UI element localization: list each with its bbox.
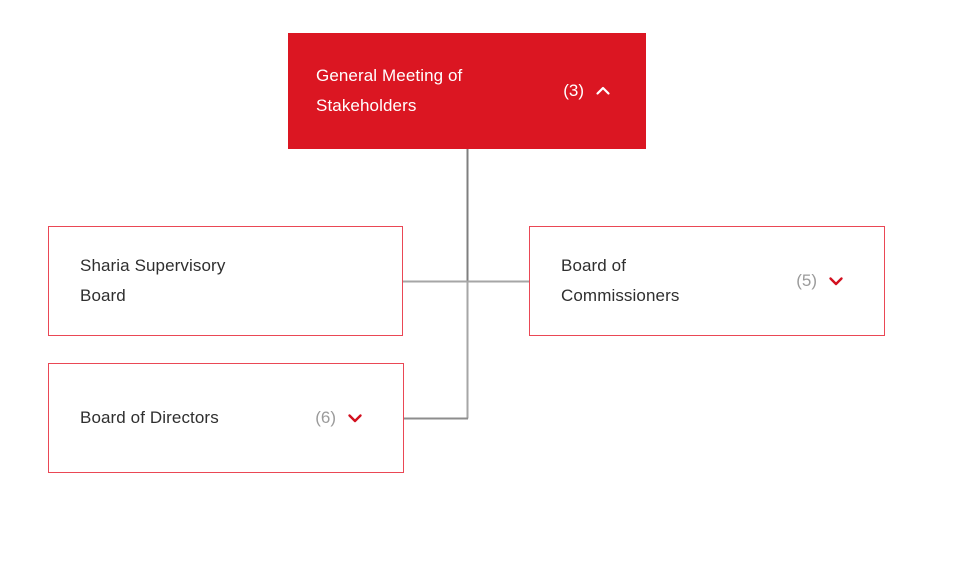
org-node-board-of-commissioners[interactable]: Board of Commissioners (5) <box>529 226 885 336</box>
org-node-count: (5) <box>796 271 817 291</box>
org-node-label: Board of Directors <box>49 403 219 433</box>
chevron-down-icon[interactable] <box>345 408 365 428</box>
org-node-meta: (5) <box>796 271 884 291</box>
org-node-count: (3) <box>563 81 584 101</box>
org-node-sharia-supervisory-board[interactable]: Sharia Supervisory Board <box>48 226 403 336</box>
org-node-meta: (3) <box>563 81 646 101</box>
org-node-meta: (6) <box>315 408 403 428</box>
org-node-count: (6) <box>315 408 336 428</box>
org-chart: General Meeting of Stakeholders (3) Shar… <box>0 0 967 561</box>
org-node-board-of-directors[interactable]: Board of Directors (6) <box>48 363 404 473</box>
org-node-label: Sharia Supervisory Board <box>49 251 225 311</box>
chevron-up-icon[interactable] <box>593 81 613 101</box>
org-node-label: General Meeting of Stakeholders <box>288 61 462 121</box>
org-node-label: Board of Commissioners <box>530 251 679 311</box>
org-node-general-meeting-of-stakeholders[interactable]: General Meeting of Stakeholders (3) <box>288 33 646 149</box>
chevron-down-icon[interactable] <box>826 271 846 291</box>
